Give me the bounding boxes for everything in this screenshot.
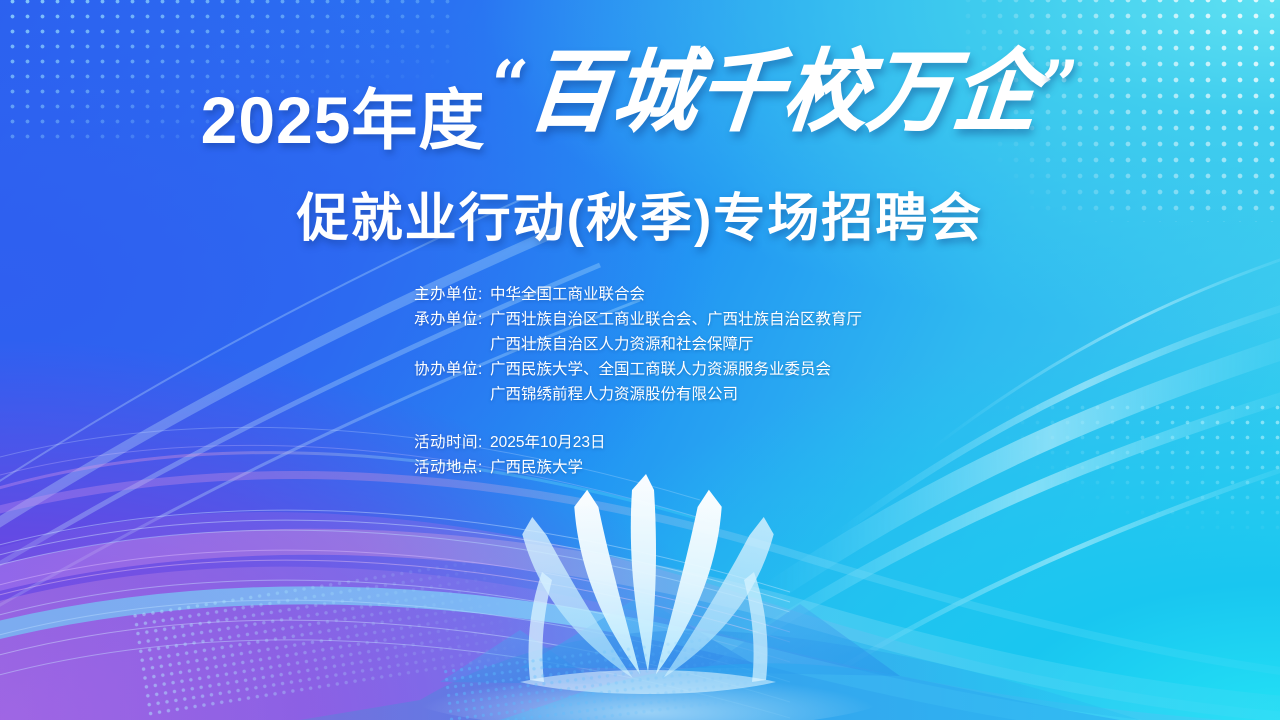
- base-landscape: [300, 596, 1140, 720]
- quote-open-mark: “: [491, 56, 529, 115]
- monument-illustration: [520, 474, 776, 694]
- poster-title: 2025年度 “ 百城千校万企 ”: [0, 64, 1280, 145]
- event-meta: 活动时间: 2025年10月23日 活动地点: 广西民族大学: [414, 430, 605, 480]
- credit-row-coorganizer: 协办单位: 广西民族大学、全国工商联人力资源服务业委员会 广西锦绣前程人力资源股…: [414, 357, 862, 407]
- credit-row-host: 主办单位: 中华全国工商业联合会: [414, 282, 862, 307]
- credit-label-organizer: 承办单位:: [414, 307, 490, 332]
- credit-value: 广西民族大学、全国工商联人力资源服务业委员会: [490, 357, 831, 382]
- credit-value: 广西壮族自治区人力资源和社会保障厅: [490, 332, 862, 357]
- poster-subtitle: 促就业行动(秋季)专场招聘会: [0, 176, 1280, 251]
- credit-label-coorganizer: 协办单位:: [414, 357, 490, 382]
- credit-value: 广西锦绣前程人力资源股份有限公司: [490, 382, 831, 407]
- title-calligraphy: 百城千校万企: [525, 50, 1044, 135]
- meta-value-time: 2025年10月23日: [490, 430, 605, 455]
- organizer-credits: 主办单位: 中华全国工商业联合会 承办单位: 广西壮族自治区工商业联合会、广西壮…: [414, 282, 862, 407]
- meta-row-location: 活动地点: 广西民族大学: [414, 455, 605, 480]
- meta-value-location: 广西民族大学: [490, 455, 583, 480]
- halftone-dots-right: [1000, 400, 1280, 540]
- light-streaks-left: [0, 200, 640, 640]
- credit-label-host: 主办单位:: [414, 282, 490, 307]
- meta-row-time: 活动时间: 2025年10月23日: [414, 430, 605, 455]
- poster-canvas: 2025年度 “ 百城千校万企 ” 促就业行动(秋季)专场招聘会 主办单位: 中…: [0, 0, 1280, 720]
- halftone-dots-base: [441, 628, 777, 720]
- halftone-dots-bottom-left: [130, 549, 542, 720]
- credit-values-host: 中华全国工商业联合会: [490, 282, 645, 307]
- credit-row-organizer: 承办单位: 广西壮族自治区工商业联合会、广西壮族自治区教育厅 广西壮族自治区人力…: [414, 307, 862, 357]
- wave-ribbons: [0, 453, 1280, 720]
- wave-line-texture: [0, 427, 790, 718]
- quote-close-mark: ”: [1041, 56, 1079, 115]
- credit-values-coorganizer: 广西民族大学、全国工商联人力资源服务业委员会 广西锦绣前程人力资源股份有限公司: [490, 357, 831, 407]
- title-calligraphy-group: “ 百城千校万企 ”: [491, 64, 1079, 145]
- meta-label-location: 活动地点:: [414, 455, 490, 480]
- title-year: 2025年度: [201, 87, 486, 153]
- credit-values-organizer: 广西壮族自治区工商业联合会、广西壮族自治区教育厅 广西壮族自治区人力资源和社会保…: [490, 307, 862, 357]
- credit-value: 中华全国工商业联合会: [490, 282, 645, 307]
- meta-label-time: 活动时间:: [414, 430, 490, 455]
- credit-value: 广西壮族自治区工商业联合会、广西壮族自治区教育厅: [490, 307, 862, 332]
